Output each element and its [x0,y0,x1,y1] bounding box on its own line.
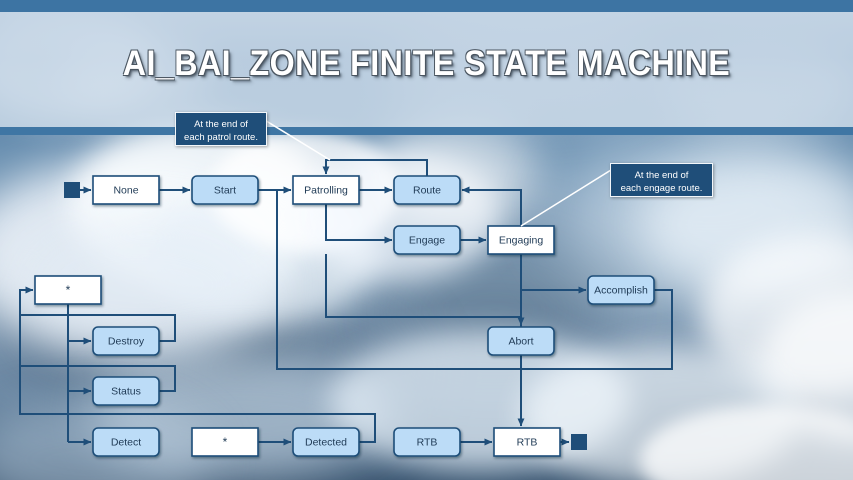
node-label: Start [214,184,236,196]
node-start-terminator[interactable] [64,182,80,198]
node-destroy[interactable]: Destroy [93,327,159,355]
node-detect[interactable]: Detect [93,428,159,456]
callout-engage-route: At the end of each engage route. [610,163,713,197]
node-none[interactable]: None [93,176,159,204]
slide-canvas: AI_BAI_ZONE FINITE STATE MACHINE [0,0,853,480]
callout-leader-engage [521,170,611,226]
callout-engage-line2: each engage route. [617,182,706,195]
node-patrolling[interactable]: Patrolling [293,176,359,204]
node-label: Route [413,184,441,196]
node-start[interactable]: Start [192,176,258,204]
callout-leader-patrol [263,119,330,160]
node-status[interactable]: Status [93,377,159,405]
node-route[interactable]: Route [394,176,460,204]
node-label: * [223,435,228,449]
state-machine-diagram: NoneStartPatrollingRouteEngageEngagingAc… [0,0,853,480]
node-label: Accomplish [594,284,648,296]
node-label: Patrolling [304,184,348,196]
node-shape [571,434,587,450]
node-label: Abort [508,335,533,347]
callout-leader-layer [263,119,611,226]
node-label: * [66,283,71,297]
edge-route-to-patrolling [326,160,427,176]
node-label: Status [111,385,141,397]
node-label: RTB [517,436,538,448]
node-label: Engaging [499,234,544,246]
node-wildcard-1[interactable]: * [35,276,101,304]
callout-patrol-line2: each patrol route. [182,131,260,144]
node-label: RTB [417,436,438,448]
node-label: Detect [111,436,141,448]
node-rtb-2[interactable]: RTB [494,428,560,456]
callout-patrol-line1: At the end of [182,118,260,131]
node-abort[interactable]: Abort [488,327,554,355]
node-label: Engage [409,234,445,246]
node-engage[interactable]: Engage [394,226,460,254]
edge-engaging-to-route [462,190,521,226]
edge-patrolling-branch-down [326,254,521,317]
node-detected[interactable]: Detected [293,428,359,456]
node-rtb-1[interactable]: RTB [394,428,460,456]
node-engaging[interactable]: Engaging [488,226,554,254]
node-end-terminator[interactable] [571,434,587,450]
callout-engage-line1: At the end of [617,169,706,182]
edge-start-branch-down [277,190,486,369]
node-label: Detected [305,436,347,448]
node-wildcard-2[interactable]: * [192,428,258,456]
edge-patrolling-to-engage [326,204,392,240]
node-label: Destroy [108,335,145,347]
callout-patrol-route: At the end of each patrol route. [175,112,267,146]
edge-engaging-to-accomplish [521,254,586,290]
node-label: None [113,184,138,196]
node-shape [64,182,80,198]
node-accomplish[interactable]: Accomplish [588,276,654,304]
